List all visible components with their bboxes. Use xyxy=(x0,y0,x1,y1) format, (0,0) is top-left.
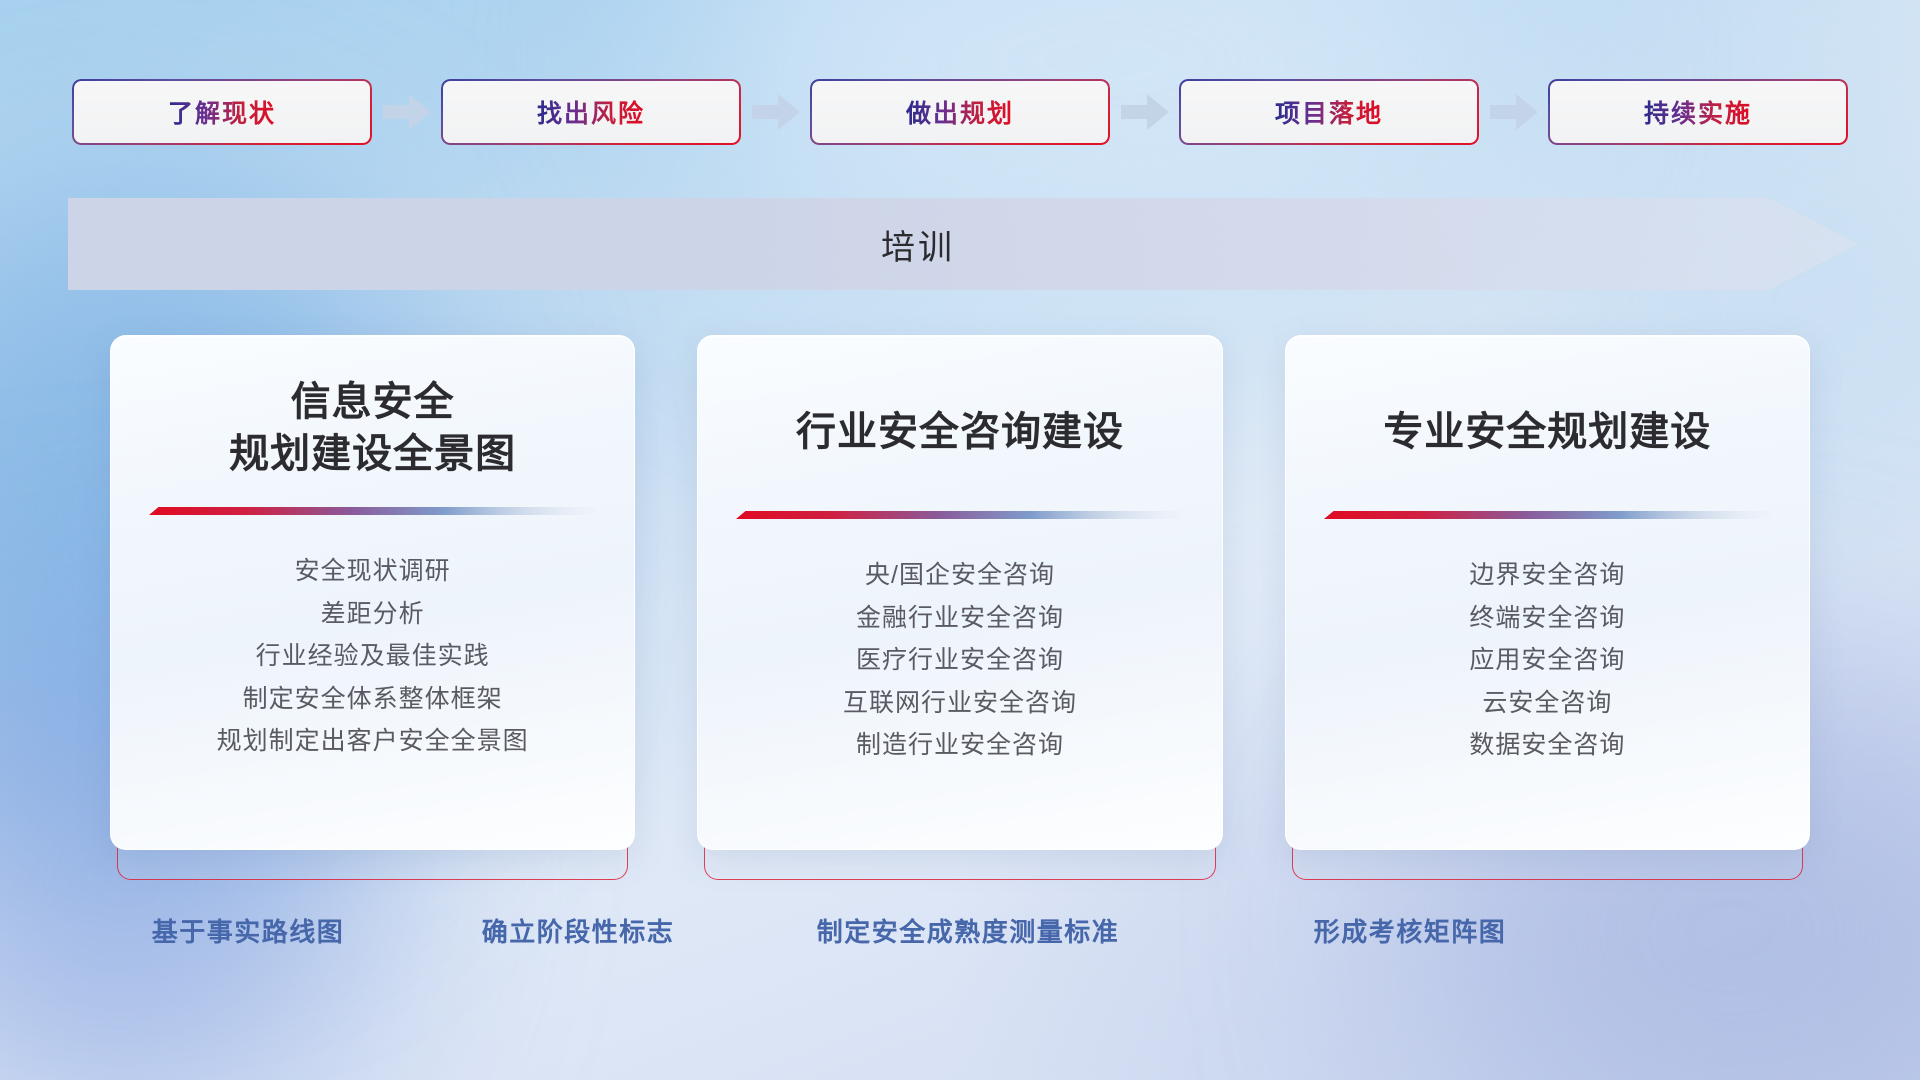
card-3-list: 边界安全咨询 终端安全咨询 应用安全咨询 云安全咨询 数据安全咨询 xyxy=(1320,554,1775,767)
card-3[interactable]: 专业安全规划建设 xyxy=(1285,335,1810,880)
footer-tag-3: 制定安全成熟度测量标准 xyxy=(817,912,1120,949)
card-2-list-item-1: 央/国企安全咨询 xyxy=(732,554,1187,597)
card-1-title-line-1: 信息安全 xyxy=(145,376,600,428)
card-3-list-item-4: 云安全咨询 xyxy=(1320,682,1775,725)
card-3-list-item-2: 终端安全咨询 xyxy=(1320,597,1775,640)
card-1-panel[interactable]: 信息安全 规划建设全景图 xyxy=(110,335,635,850)
card-2-title-line-1: 行业安全咨询建设 xyxy=(732,406,1187,458)
slide-canvas: 了解现状 找出风险 做出规划 项目落地 xyxy=(0,0,1920,1080)
process-step-4[interactable]: 项目落地 xyxy=(1179,79,1479,145)
process-step-2[interactable]: 找出风险 xyxy=(441,79,741,145)
process-step-row: 了解现状 找出风险 做出规划 项目落地 xyxy=(72,78,1848,146)
card-3-divider xyxy=(1324,510,1771,520)
card-1-divider xyxy=(149,506,596,516)
card-3-panel[interactable]: 专业安全规划建设 xyxy=(1285,335,1810,850)
footer-tag-1: 基于事实路线图 xyxy=(152,912,345,949)
card-2-panel[interactable]: 行业安全咨询建设 xyxy=(697,335,1222,850)
process-step-2-label: 找出风险 xyxy=(537,94,645,130)
card-1-list-item-3: 行业经验及最佳实践 xyxy=(145,635,600,678)
card-2-list-item-4: 互联网行业安全咨询 xyxy=(732,682,1187,725)
card-1-list-item-2: 差距分析 xyxy=(145,593,600,636)
card-2-title: 行业安全咨询建设 xyxy=(732,376,1187,458)
banner-title: 培训 xyxy=(68,198,1768,290)
process-step-3-label: 做出规划 xyxy=(906,94,1014,130)
card-3-list-item-1: 边界安全咨询 xyxy=(1320,554,1775,597)
card-1-title-line-2: 规划建设全景图 xyxy=(145,428,600,480)
process-step-4-label: 项目落地 xyxy=(1275,94,1383,130)
process-step-3[interactable]: 做出规划 xyxy=(810,79,1110,145)
card-1-list-item-5: 规划制定出客户安全全景图 xyxy=(145,720,600,763)
process-arrow-3 xyxy=(1110,94,1179,130)
card-2-list: 央/国企安全咨询 金融行业安全咨询 医疗行业安全咨询 互联网行业安全咨询 制造行… xyxy=(732,554,1187,767)
card-row: 信息安全 规划建设全景图 xyxy=(110,335,1810,880)
card-2-list-item-5: 制造行业安全咨询 xyxy=(732,724,1187,767)
process-arrow-4 xyxy=(1479,94,1548,130)
card-1-title: 信息安全 规划建设全景图 xyxy=(145,376,600,480)
card-2-list-item-3: 医疗行业安全咨询 xyxy=(732,639,1187,682)
footer-tag-4: 形成考核矩阵图 xyxy=(1314,912,1507,949)
process-step-1[interactable]: 了解现状 xyxy=(72,79,372,145)
process-arrow-2 xyxy=(741,94,810,130)
card-2-list-item-2: 金融行业安全咨询 xyxy=(732,597,1187,640)
card-3-title: 专业安全规划建设 xyxy=(1320,376,1775,458)
card-2-divider xyxy=(736,510,1183,520)
training-banner: 培训 xyxy=(68,198,1858,290)
process-step-1-label: 了解现状 xyxy=(168,94,276,130)
card-1-list: 安全现状调研 差距分析 行业经验及最佳实践 制定安全体系整体框架 规划制定出客户… xyxy=(145,550,600,763)
card-3-title-line-1: 专业安全规划建设 xyxy=(1320,406,1775,458)
card-1-list-item-1: 安全现状调研 xyxy=(145,550,600,593)
footer-tag-row: 基于事实路线图 确立阶段性标志 制定安全成熟度测量标准 形成考核矩阵图 xyxy=(0,912,1920,956)
card-2[interactable]: 行业安全咨询建设 xyxy=(697,335,1222,880)
process-step-5[interactable]: 持续实施 xyxy=(1548,79,1848,145)
process-step-5-label: 持续实施 xyxy=(1644,94,1752,130)
process-arrow-1 xyxy=(372,94,441,130)
footer-tag-2: 确立阶段性标志 xyxy=(482,912,675,949)
card-1-list-item-4: 制定安全体系整体框架 xyxy=(145,678,600,721)
card-3-list-item-3: 应用安全咨询 xyxy=(1320,639,1775,682)
card-1[interactable]: 信息安全 规划建设全景图 xyxy=(110,335,635,880)
card-3-list-item-5: 数据安全咨询 xyxy=(1320,724,1775,767)
